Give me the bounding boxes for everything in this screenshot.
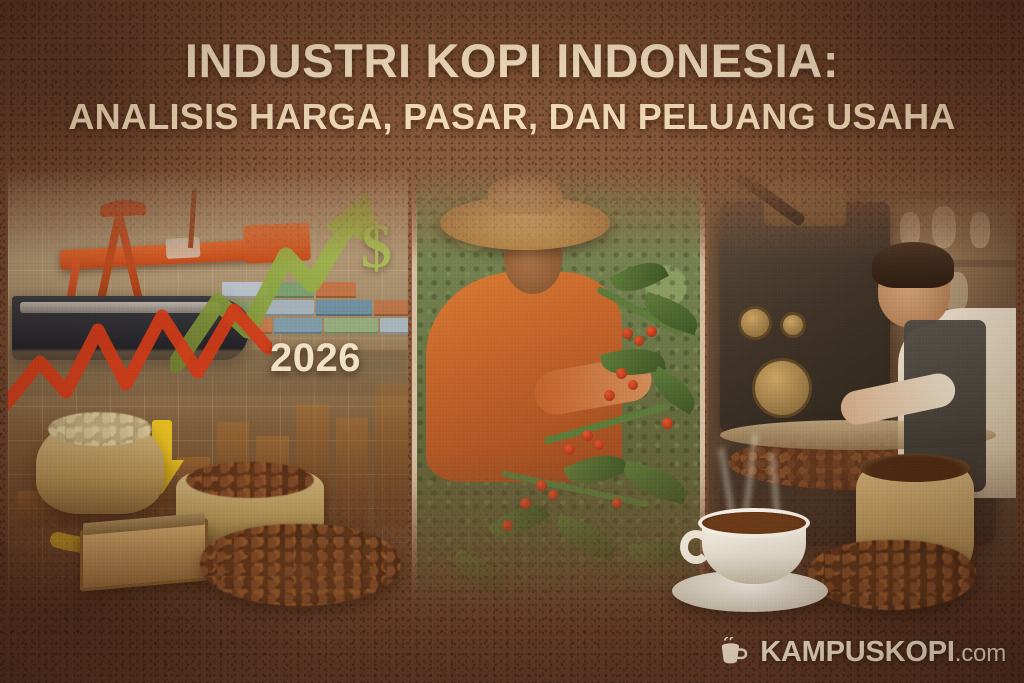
straw-hat-crown <box>488 174 562 214</box>
coffee-cherry <box>548 490 558 500</box>
page-subtitle: ANALISIS HARGA, PASAR, DAN PELUANG USAHA <box>26 97 998 137</box>
year-badge: 2026 <box>270 336 361 381</box>
coffee-cherry <box>536 480 547 491</box>
storage-jar <box>932 206 956 248</box>
coffee-surface <box>702 512 806 534</box>
coffee-cherry <box>662 418 673 429</box>
poster-canvas: $ $ <box>0 0 1024 683</box>
coffee-cherry <box>646 326 657 337</box>
green-bean-pile <box>48 412 152 446</box>
brand-logo[interactable]: KAMPUSKOPI.com <box>717 637 1006 667</box>
coffee-cherry <box>634 336 644 346</box>
dollar-sign-green: $ <box>361 212 392 283</box>
wooden-crate <box>80 518 208 591</box>
coffee-cherry <box>564 444 575 455</box>
coffee-cherry <box>628 380 638 390</box>
shelf <box>858 192 1016 199</box>
coffee-cherry <box>594 440 604 450</box>
coffee-cup-icon <box>717 637 751 667</box>
page-title: INDUSTRI KOPI INDONESIA: <box>26 36 998 86</box>
panel-farmer <box>416 168 700 623</box>
coffee-cherry <box>616 368 627 379</box>
headline-block: INDUSTRI KOPI INDONESIA: ANALISIS HARGA,… <box>0 36 1024 136</box>
logo-part-kopi: KOPI <box>885 636 955 668</box>
spilled-bean-pile <box>200 524 400 606</box>
roaster-gauge <box>780 312 806 338</box>
logo-wordmark: KAMPUSKOPI.com <box>760 638 1006 667</box>
coffee-cherry <box>612 498 622 508</box>
coffee-cherry <box>604 390 615 401</box>
logo-part-kampus: KAMPUS <box>760 636 884 668</box>
roaster-handwheel <box>738 306 772 340</box>
coffee-cherry <box>520 498 531 509</box>
coffee-cherry <box>582 430 593 441</box>
roasted-bean-pile <box>186 462 314 498</box>
roaster-drum-door <box>752 358 812 418</box>
storage-jar <box>970 212 990 248</box>
logo-part-com: .com <box>955 640 1006 667</box>
cup-handle <box>680 530 712 564</box>
bean-pile-right <box>808 540 976 610</box>
coffee-cherry <box>622 328 633 339</box>
roaster-hair <box>872 242 954 288</box>
panel-divider <box>412 168 417 623</box>
coffee-cherry <box>502 520 513 531</box>
